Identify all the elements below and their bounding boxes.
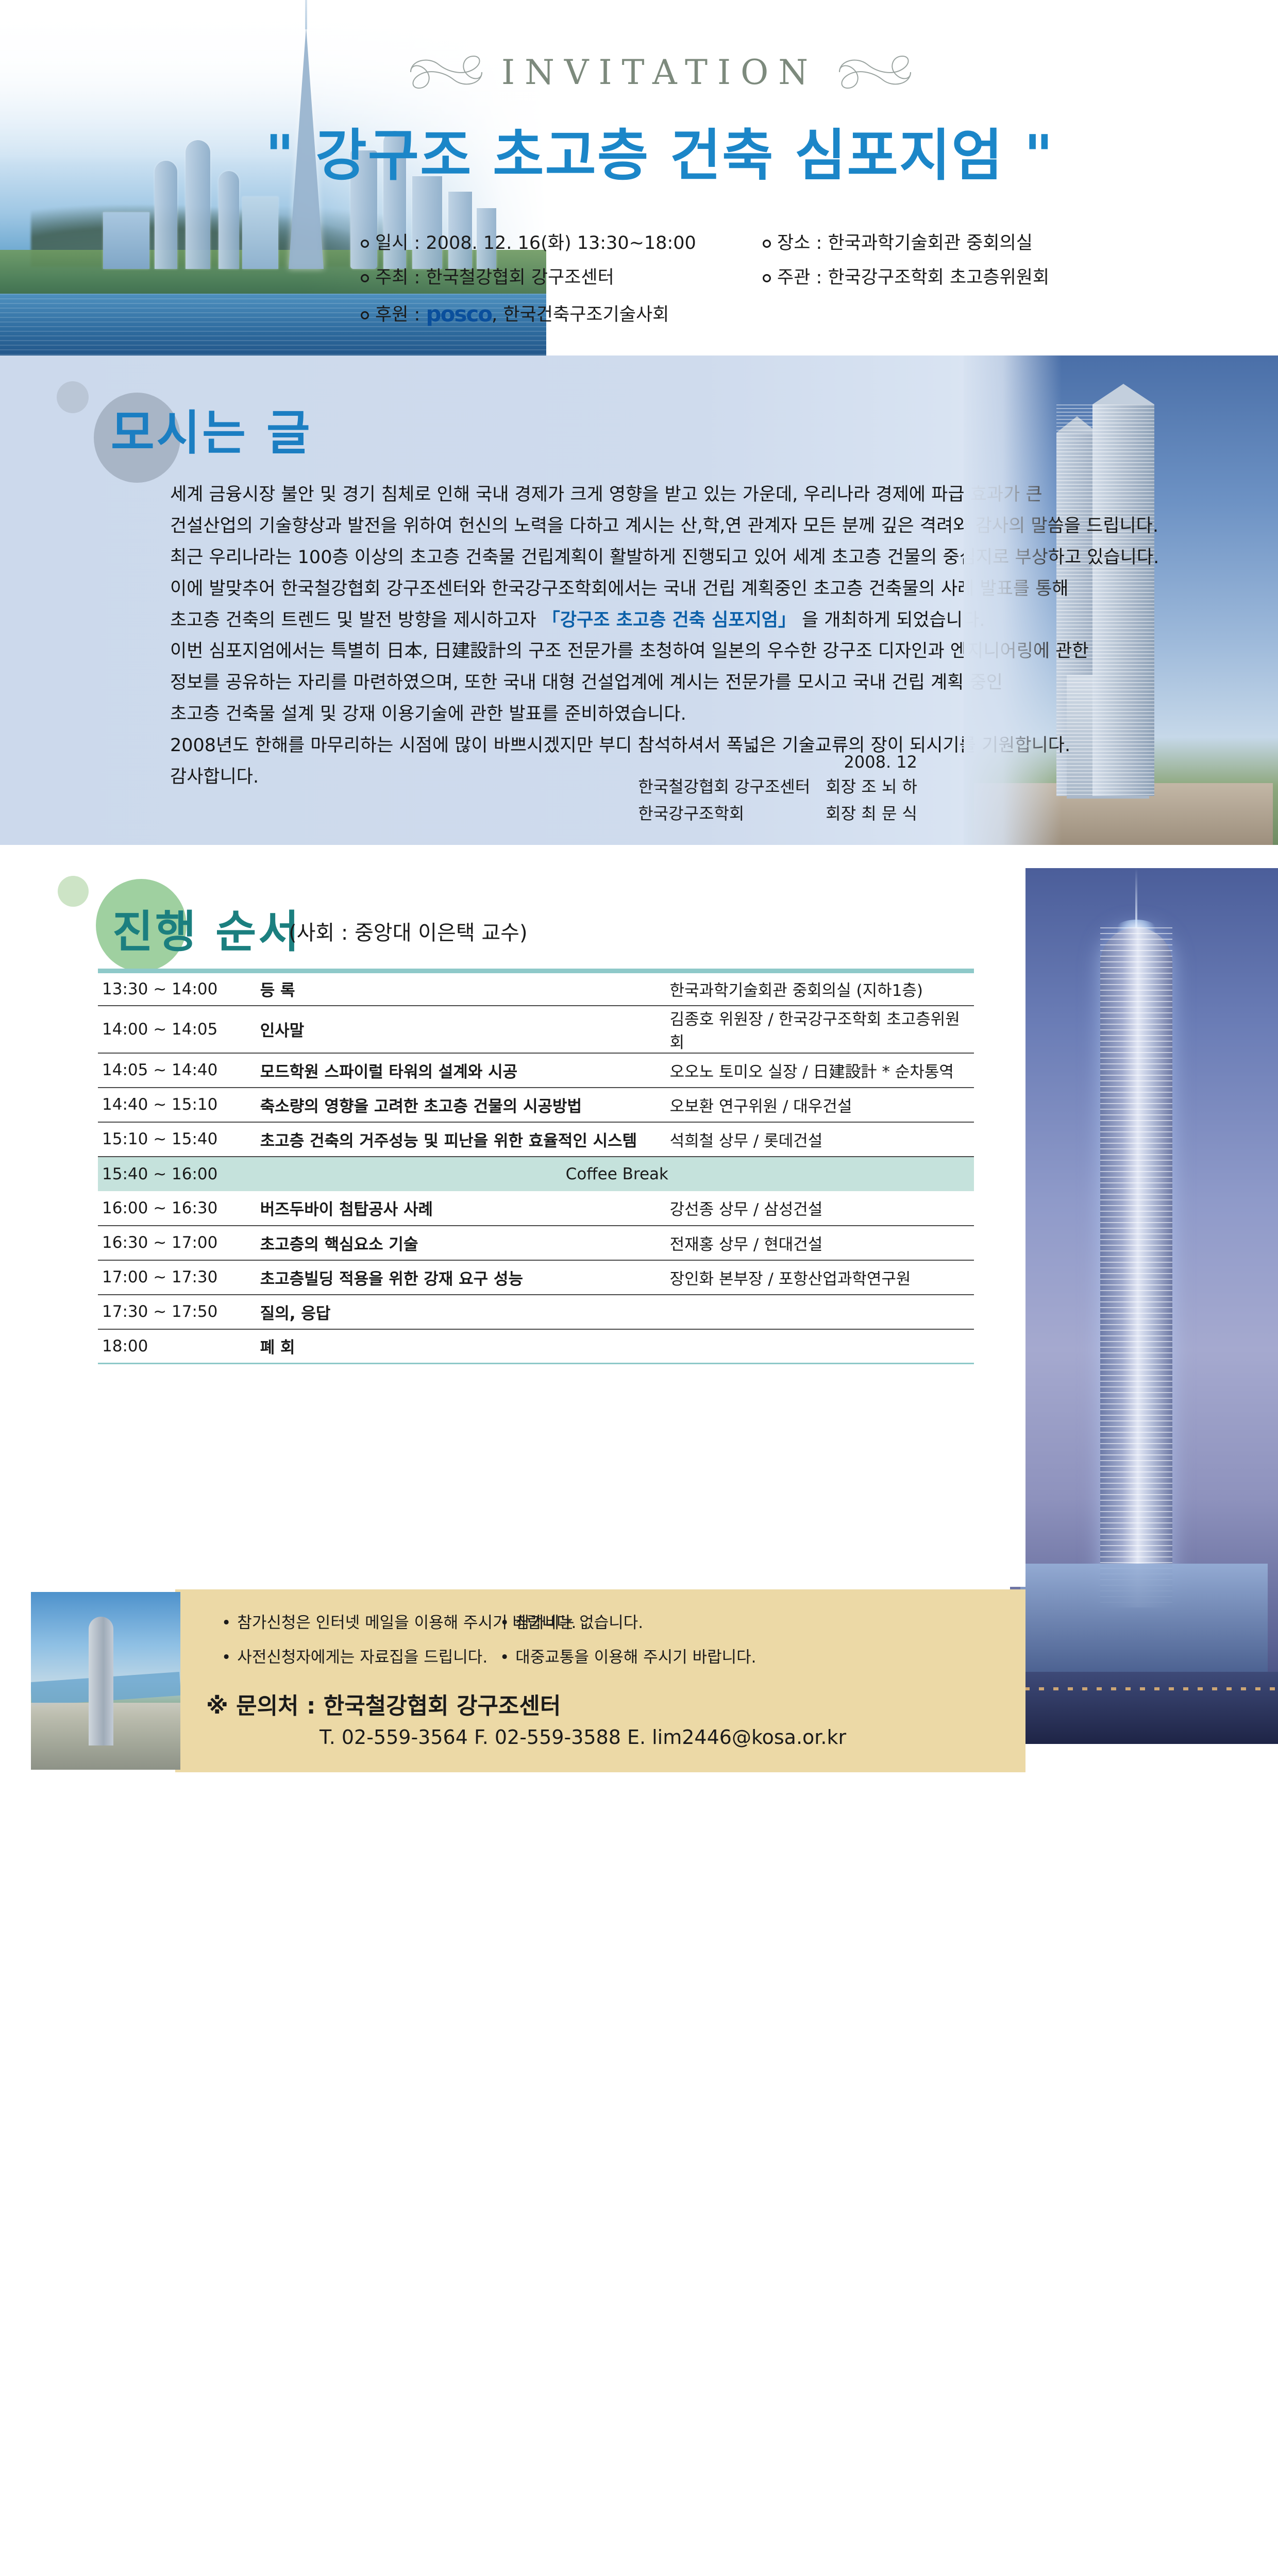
greeting-line: 최근 우리나라는 100층 이상의 초고층 건축물 건립계획이 활발하게 진행되… bbox=[170, 542, 1046, 573]
cell-time: 17:00 ~ 17:30 bbox=[98, 1260, 256, 1295]
building-block bbox=[218, 171, 239, 269]
footer-note: 대중교통을 이용해 주시기 바랍니다. bbox=[500, 1648, 756, 1667]
invitation-header: INVITATION bbox=[361, 49, 959, 95]
cell-speaker: 오보환 연구위원 / 대우건설 bbox=[666, 1088, 974, 1122]
cell-topic: 축소량의 영향을 고려한 초고층 건물의 시공방법 bbox=[256, 1088, 666, 1122]
night-tower-photo bbox=[1010, 868, 1278, 1744]
highlight-before: 초고층 건축의 트렌드 및 발전 방향을 제시하고자 bbox=[170, 610, 542, 631]
cell-topic: 모드학원 스파이럴 타워의 설계와 시공 bbox=[256, 1053, 666, 1088]
signature-org-2: 한국강구조학회 bbox=[638, 801, 810, 826]
cell-speaker: 오오노 토미오 실장 / 日建設計 * 순차통역 bbox=[666, 1053, 974, 1088]
meta-organizer: 주관 : 한국강구조학회 초고층위원회 bbox=[763, 267, 1049, 288]
night-ground bbox=[1010, 1672, 1278, 1744]
meta-date-text: 일시 : 2008. 12. 16(화) 13:30~18:00 bbox=[375, 233, 696, 253]
schedule-moderator: (사회 : 중앙대 이은택 교수) bbox=[289, 916, 528, 946]
schedule-heading: 진행 순서 bbox=[112, 895, 301, 960]
cell-speaker: 한국과학기술회관 중회의실 (지하1층) bbox=[666, 971, 974, 1006]
table-row: 14:00 ~ 14:05인사말김종호 위원장 / 한국강구조학회 초고층위원회 bbox=[98, 1006, 974, 1053]
cell-time: 15:40 ~ 16:00 bbox=[98, 1157, 256, 1191]
footer-notes-row-1: 참가신청은 인터넷 메일을 이용해 주시기 바랍니다. 참가비는 없습니다. bbox=[222, 1615, 943, 1631]
cell-topic: 버즈두바이 첨탑공사 사례 bbox=[256, 1191, 666, 1226]
footer-notes-row-2: 사전신청자에게는 자료집을 드립니다. 대중교통을 이용해 주시기 바랍니다. bbox=[222, 1650, 943, 1666]
building-block bbox=[103, 212, 149, 269]
greeting-line: 세계 금융시장 불안 및 경기 침체로 인해 국내 경제가 크게 영향을 받고 … bbox=[170, 479, 1046, 511]
cell-topic: 인사말 bbox=[256, 1006, 666, 1053]
table-row: 14:05 ~ 14:40모드학원 스파이럴 타워의 설계와 시공오오노 토미오… bbox=[98, 1053, 974, 1088]
map-section: 한국과학기술회관 약도 한국과학기술회관 (KOFST) 국기원 시티극장 뚜레… bbox=[0, 1319, 1025, 1587]
greeting-line: 정보를 공유하는 자리를 마련하였으며, 또한 국내 대형 건설업계에 계시는 … bbox=[170, 667, 1046, 699]
meta-row-sponsor: 후원 : posco, 한국건축구조기술사회 bbox=[361, 303, 1268, 325]
page-title: " 강구조 초고층 건축 심포지엄 " bbox=[247, 111, 1072, 191]
cell-speaker: 전재홍 상무 / 현대건설 bbox=[666, 1226, 974, 1260]
flourish-ornament-left bbox=[407, 49, 484, 95]
footer-notes: 참가신청은 인터넷 메일을 이용해 주시기 바랍니다. 참가비는 없습니다. 사… bbox=[222, 1615, 943, 1684]
cell-speaker: 김종호 위원장 / 한국강구조학회 초고층위원회 bbox=[666, 1006, 974, 1053]
cell-time: 15:10 ~ 15:40 bbox=[98, 1122, 256, 1157]
lotte-tower-shape bbox=[89, 1617, 113, 1745]
meta-venue-text: 장소 : 한국과학기술회관 중회의실 bbox=[777, 233, 1033, 253]
greeting-line: 건설산업의 기술향상과 발전을 위하여 헌신의 노력을 다하고 계시는 산,학,… bbox=[170, 511, 1046, 542]
building-block bbox=[242, 197, 278, 269]
footer-tower-photo bbox=[31, 1592, 180, 1770]
table-row: 14:40 ~ 15:10축소량의 영향을 고려한 초고층 건물의 시공방법오보… bbox=[98, 1088, 974, 1122]
symposium-name-highlight: 「강구조 초고층 건축 심포지엄」 bbox=[542, 610, 796, 631]
cell-topic: Coffee Break bbox=[256, 1157, 974, 1191]
bullet-ring-icon bbox=[361, 274, 369, 282]
signature-role-2: 회장 최 문 식 bbox=[826, 801, 917, 826]
bullet-ring-icon bbox=[361, 240, 369, 248]
highlight-after: 을 개최하게 되었습니다. bbox=[796, 610, 985, 631]
night-tower-body bbox=[1100, 927, 1172, 1607]
twin-tower-photo bbox=[964, 355, 1278, 845]
meta-host-text: 주최 : 한국철강협회 강구조센터 bbox=[375, 267, 614, 288]
cell-speaker: 강선종 상무 / 삼성건설 bbox=[666, 1191, 974, 1226]
footer-note: 참가비는 없습니다. bbox=[500, 1614, 643, 1632]
tower-floor-stripes bbox=[1056, 404, 1154, 796]
cell-topic: 초고층 건축의 거주성능 및 피난을 위한 효율적인 시스템 bbox=[256, 1122, 666, 1157]
cell-topic: 초고층빌딩 적용을 위한 강재 요구 성능 bbox=[256, 1260, 666, 1295]
table-row: 16:00 ~ 16:30버즈두바이 첨탑공사 사례강선종 상무 / 삼성건설 bbox=[98, 1191, 974, 1226]
contact-heading: ※ 문의처 : 한국철강협회 강구조센터 bbox=[206, 1687, 561, 1720]
posco-logo: posco bbox=[426, 301, 492, 327]
cell-time: 14:40 ~ 15:10 bbox=[98, 1088, 256, 1122]
signature-date: 2008. 12 bbox=[638, 750, 917, 774]
greeting-signature: 2008. 12 한국철강협회 강구조센터 회장 조 뇌 하 한국강구조학회 회… bbox=[638, 750, 917, 826]
greeting-body: 세계 금융시장 불안 및 경기 침체로 인해 국내 경제가 크게 영향을 받고 … bbox=[170, 479, 1046, 793]
flourish-ornament-right bbox=[835, 49, 913, 95]
meta-row-datetime: 일시 : 2008. 12. 16(화) 13:30~18:00 장소 : 한국… bbox=[361, 234, 1268, 252]
meta-organizer-text: 주관 : 한국강구조학회 초고층위원회 bbox=[777, 267, 1049, 288]
cell-speaker: 장인화 본부장 / 포항산업과학연구원 bbox=[666, 1260, 974, 1295]
signature-org-1: 한국철강협회 강구조센터 bbox=[638, 774, 810, 799]
cell-speaker: 석희철 상무 / 롯데건설 bbox=[666, 1122, 974, 1157]
meta-sponsor: 후원 : posco, 한국건축구조기술사회 bbox=[361, 304, 669, 325]
meta-row-host: 주최 : 한국철강협회 강구조센터 주관 : 한국강구조학회 초고층위원회 bbox=[361, 269, 1268, 287]
greeting-line: 이번 심포지엄에서는 특별히 日本, 日建設計의 구조 전문가를 초청하여 일본… bbox=[170, 636, 1046, 667]
header-band: INVITATION " 강구조 초고층 건축 심포지엄 " 일시 : 2008… bbox=[0, 0, 1278, 355]
table-row: 15:10 ~ 15:40초고층 건축의 거주성능 및 피난을 위한 효율적인 … bbox=[98, 1122, 974, 1157]
decor-circle-small bbox=[57, 381, 89, 413]
cell-time: 14:05 ~ 14:40 bbox=[98, 1053, 256, 1088]
building-block bbox=[186, 140, 210, 269]
cell-topic: 등 록 bbox=[256, 971, 666, 1006]
cell-time: 16:00 ~ 16:30 bbox=[98, 1191, 256, 1226]
signature-role-1: 회장 조 뇌 하 bbox=[826, 774, 917, 799]
bullet-ring-icon bbox=[763, 240, 771, 248]
table-row: 17:00 ~ 17:30초고층빌딩 적용을 위한 강재 요구 성능장인화 본부… bbox=[98, 1260, 974, 1295]
meta-host: 주최 : 한국철강협회 강구조센터 bbox=[361, 267, 614, 288]
meta-sponsor-prefix: 후원 : bbox=[375, 304, 426, 325]
cell-time: 13:30 ~ 14:00 bbox=[98, 971, 256, 1006]
cell-time: 16:30 ~ 17:00 bbox=[98, 1226, 256, 1260]
greeting-heading: 모시는 글 bbox=[111, 395, 312, 463]
event-meta: 일시 : 2008. 12. 16(화) 13:30~18:00 장소 : 한국… bbox=[361, 234, 1268, 342]
table-row: 16:30 ~ 17:00초고층의 핵심요소 기술전재홍 상무 / 현대건설 bbox=[98, 1226, 974, 1260]
bullet-ring-icon bbox=[763, 274, 771, 282]
bullet-ring-icon bbox=[361, 311, 369, 319]
meta-venue: 장소 : 한국과학기술회관 중회의실 bbox=[763, 233, 1033, 253]
meta-sponsor-suffix: , 한국건축구조기술사회 bbox=[492, 304, 669, 325]
decor-circle-small-green bbox=[58, 876, 89, 907]
program-table: 13:30 ~ 14:00등 록한국과학기술회관 중회의실 (지하1층)14:0… bbox=[98, 969, 974, 1364]
night-tower-podium bbox=[1020, 1564, 1268, 1682]
cell-topic: 초고층의 핵심요소 기술 bbox=[256, 1226, 666, 1260]
invitation-label: INVITATION bbox=[501, 53, 818, 92]
footer-note: 사전신청자에게는 자료집을 드립니다. bbox=[222, 1648, 487, 1667]
building-block bbox=[155, 161, 177, 269]
greeting-line: 초고층 건축물 설계 및 강재 이용기술에 관한 발표를 준비하였습니다. bbox=[170, 699, 1046, 730]
greeting-line-highlight: 초고층 건축의 트렌드 및 발전 방향을 제시하고자 「강구조 초고층 건축 심… bbox=[170, 605, 1046, 636]
table-row: 13:30 ~ 14:00등 록한국과학기술회관 중회의실 (지하1층) bbox=[98, 971, 974, 1006]
cell-time: 14:00 ~ 14:05 bbox=[98, 1006, 256, 1053]
greeting-line: 이에 발맞추어 한국철강협회 강구조센터와 한국강구조학회에서는 국내 건립 계… bbox=[170, 573, 1046, 605]
table-row: 15:40 ~ 16:00Coffee Break bbox=[98, 1157, 974, 1191]
meta-date: 일시 : 2008. 12. 16(화) 13:30~18:00 bbox=[361, 233, 696, 253]
contact-details[interactable]: T. 02-559-3564 F. 02-559-3588 E. lim2446… bbox=[320, 1726, 846, 1749]
